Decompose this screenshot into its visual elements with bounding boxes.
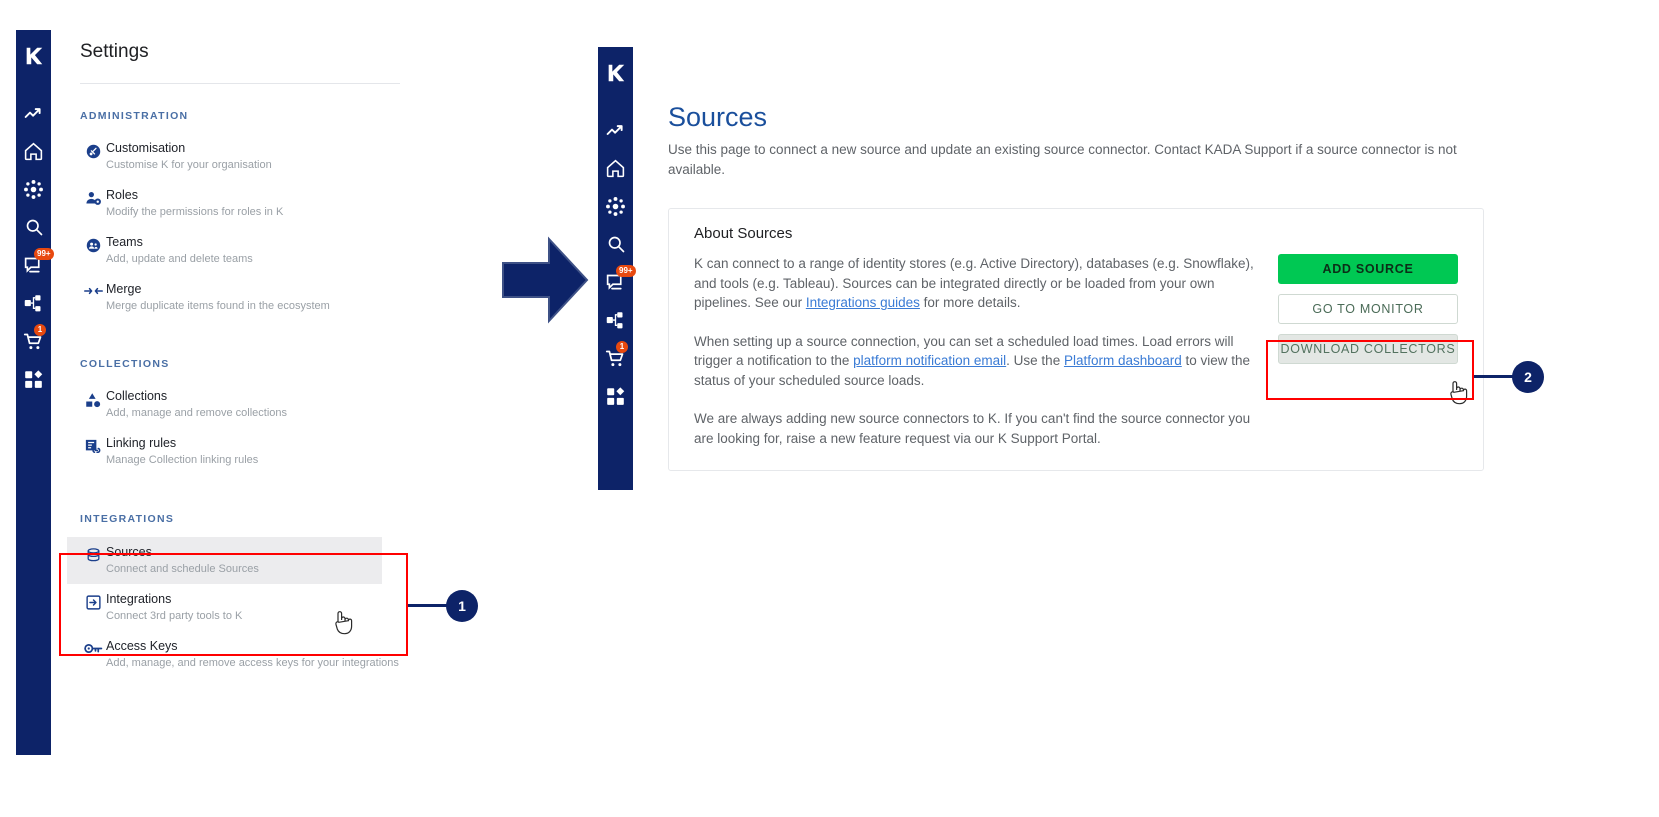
about-sources-body: K can connect to a range of identity sto… (669, 254, 1259, 448)
settings-item-title: Collections (106, 388, 287, 404)
settings-item-sources[interactable]: Sources Connect and schedule Sources (67, 537, 382, 584)
sidebar-item-lineage[interactable] (598, 301, 633, 339)
go-to-monitor-button[interactable]: GO TO MONITOR (1278, 294, 1458, 324)
integrations-guides-link[interactable]: Integrations guides (806, 295, 920, 310)
settings-item-subtitle: Connect 3rd party tools to K (106, 608, 242, 624)
settings-item-title: Customisation (106, 140, 272, 156)
page-title: Sources (668, 100, 1498, 134)
add-source-button[interactable]: ADD SOURCE (1278, 254, 1458, 284)
about-sources-card: About Sources K can connect to a range o… (668, 208, 1484, 471)
sidebar-item-messages[interactable]: 99+ (16, 246, 51, 284)
settings-item-subtitle: Add, update and delete teams (106, 251, 253, 267)
teams-people-circle-icon (80, 234, 106, 254)
cart-badge: 1 (34, 324, 46, 336)
sources-page: Sources Use this page to connect a new s… (668, 100, 1498, 471)
k-logo-icon[interactable] (604, 61, 628, 85)
roles-person-gear-icon (80, 187, 106, 207)
settings-item-subtitle: Modify the permissions for roles in K (106, 204, 283, 220)
section-heading-administration: ADMINISTRATION (67, 110, 417, 122)
sources-database-icon (80, 544, 106, 564)
customisation-wrench-icon (80, 140, 106, 160)
sidebar-item-search[interactable] (598, 225, 633, 263)
sidebar-item-network[interactable] (16, 170, 51, 208)
settings-item-subtitle: Connect and schedule Sources (106, 561, 259, 577)
messages-badge: 99+ (34, 248, 54, 260)
integrations-arrow-box-icon (80, 591, 106, 611)
hub-network-icon (23, 179, 44, 200)
about-p1-text-b: for more details. (920, 295, 1021, 310)
hub-network-icon (605, 196, 626, 217)
section-heading-collections: COLLECTIONS (67, 358, 417, 370)
collections-shapes-icon (80, 388, 106, 409)
settings-item-subtitle: Manage Collection linking rules (106, 452, 258, 468)
settings-item-title: Integrations (106, 591, 242, 607)
access-keys-key-icon (80, 638, 106, 656)
sitemap-icon (605, 310, 626, 331)
sidebar-item-cart[interactable]: 1 (16, 322, 51, 360)
settings-panel: Settings ADMINISTRATION Customisation Cu… (67, 30, 417, 678)
settings-item-roles[interactable]: Roles Modify the permissions for roles i… (67, 180, 417, 227)
about-paragraph-2: When setting up a source connection, you… (694, 332, 1259, 391)
merge-arrows-icon (80, 281, 106, 298)
page-title: Settings (67, 30, 417, 63)
sidebar-item-messages[interactable]: 99+ (598, 263, 633, 301)
settings-item-subtitle: Merge duplicate items found in the ecosy… (106, 298, 330, 314)
k-logo-icon[interactable] (22, 44, 46, 68)
sidebar-item-dashboard[interactable] (16, 360, 51, 398)
sitemap-icon (23, 293, 44, 314)
sidebar-item-search[interactable] (16, 208, 51, 246)
settings-item-title: Sources (106, 544, 259, 560)
sidebar-item-home[interactable] (598, 149, 633, 187)
page-subtitle: Use this page to connect a new source an… (668, 140, 1458, 180)
about-sources-title: About Sources (669, 225, 1483, 242)
annotation-connector-2 (1474, 375, 1515, 378)
platform-dashboard-link[interactable]: Platform dashboard (1064, 353, 1182, 368)
settings-item-linking-rules[interactable]: Linking rules Manage Collection linking … (67, 428, 417, 475)
cart-badge: 1 (616, 341, 628, 353)
sidebar-item-trending-up[interactable] (16, 94, 51, 132)
flow-arrow-icon (497, 235, 592, 325)
settings-item-subtitle: Add, manage and remove collections (106, 405, 287, 421)
settings-item-merge[interactable]: Merge Merge duplicate items found in the… (67, 274, 417, 321)
settings-item-access-keys[interactable]: Access Keys Add, manage, and remove acce… (67, 631, 417, 678)
annotation-step-badge-2: 2 (1512, 361, 1544, 393)
platform-notification-email-link[interactable]: platform notification email (853, 353, 1006, 368)
about-paragraph-3: We are always adding new source connecto… (694, 409, 1259, 448)
about-paragraph-1: K can connect to a range of identity sto… (694, 254, 1259, 313)
dashboard-grid-icon (605, 386, 626, 407)
settings-item-title: Linking rules (106, 435, 258, 451)
settings-item-customisation[interactable]: Customisation Customise K for your organ… (67, 133, 417, 180)
annotation-step-badge-1: 1 (446, 590, 478, 622)
dashboard-grid-icon (23, 369, 44, 390)
settings-item-title: Merge (106, 281, 330, 297)
settings-item-integrations[interactable]: Integrations Connect 3rd party tools to … (67, 584, 417, 631)
search-icon (24, 217, 44, 237)
sidebar-item-network[interactable] (598, 187, 633, 225)
sidebar-item-lineage[interactable] (16, 284, 51, 322)
home-icon (23, 141, 44, 162)
settings-item-title: Access Keys (106, 638, 399, 654)
left-nav-rail: 99+ 1 (16, 30, 51, 755)
search-icon (606, 234, 626, 254)
section-heading-integrations: INTEGRATIONS (67, 513, 417, 525)
settings-item-teams[interactable]: Teams Add, update and delete teams (67, 227, 417, 274)
settings-item-title: Teams (106, 234, 253, 250)
about-p2-text-b: . Use the (1006, 353, 1064, 368)
sidebar-item-trending-up[interactable] (598, 111, 633, 149)
settings-item-title: Roles (106, 187, 283, 203)
sidebar-item-cart[interactable]: 1 (598, 339, 633, 377)
trending-up-icon (605, 120, 626, 141)
sidebar-item-dashboard[interactable] (598, 377, 633, 415)
linking-rules-icon (80, 435, 106, 456)
annotation-step-number: 2 (1524, 369, 1532, 385)
settings-item-collections[interactable]: Collections Add, manage and remove colle… (67, 381, 417, 428)
about-sources-actions: ADD SOURCE GO TO MONITOR DOWNLOAD COLLEC… (1278, 254, 1458, 364)
settings-item-subtitle: Add, manage, and remove access keys for … (106, 655, 399, 671)
annotation-step-number: 1 (458, 598, 466, 614)
settings-item-subtitle: Customise K for your organisation (106, 157, 272, 173)
messages-badge: 99+ (616, 265, 636, 277)
home-icon (605, 158, 626, 179)
trending-up-icon (23, 103, 44, 124)
download-collectors-button[interactable]: DOWNLOAD COLLECTORS (1278, 334, 1458, 364)
secondary-nav-rail: 99+ 1 (598, 47, 633, 490)
sidebar-item-home[interactable] (16, 132, 51, 170)
